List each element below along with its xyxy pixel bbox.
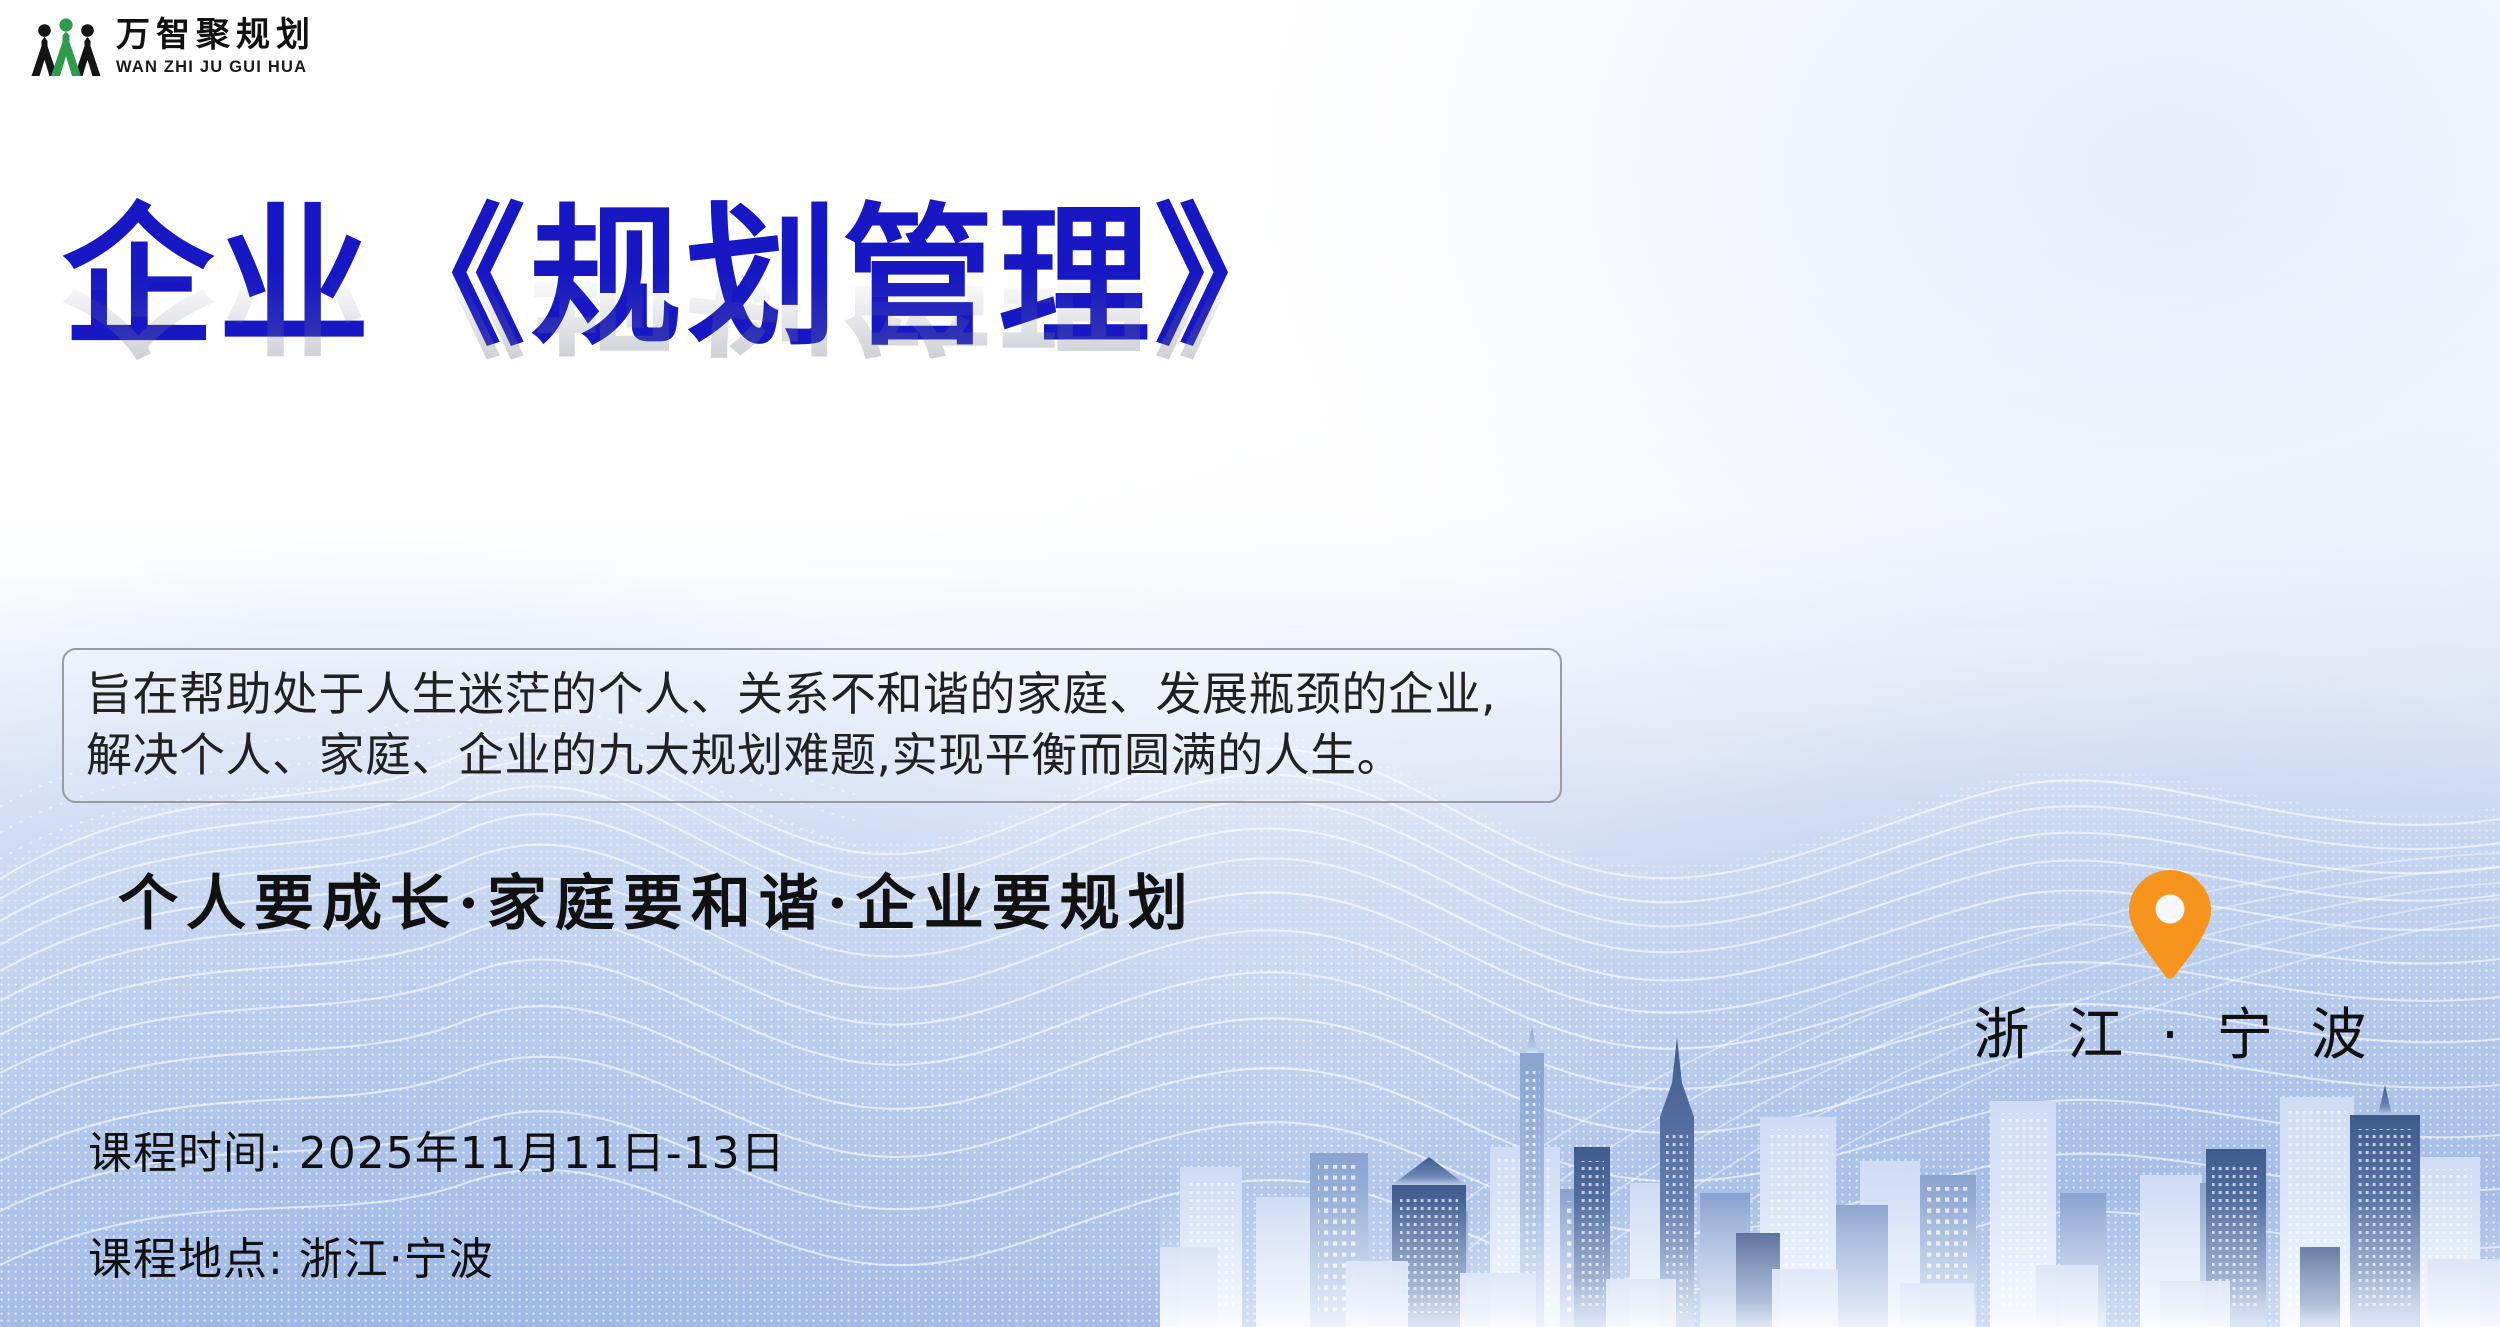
hero-slogan: 个人要成长·家庭要和谐·企业要规划 <box>118 855 1196 942</box>
brand-logo[interactable]: 万智聚规划 WAN ZHI JU GUI HUA <box>30 14 316 80</box>
hero-title-block: 企业《规划管理》 企业《规划管理》 <box>62 196 1662 454</box>
brand-name-en: WAN ZHI JU GUI HUA <box>116 59 316 76</box>
course-info-block: 课程时间: 2025年11月11日-13日 课程地点: 浙江·宁波 <box>88 1117 786 1287</box>
description-line-1: 旨在帮助处于人生迷茫的个人、关系不和谐的家庭、发展瓶颈的企业, <box>86 664 1538 725</box>
location-badge: 浙 江 · 宁 波 <box>1960 868 2380 1071</box>
description-line-2: 解决个人、家庭、企业的九大规划难题,实现平衡而圆满的人生。 <box>86 725 1538 786</box>
course-time: 课程时间: 2025年11月11日-13日 <box>88 1117 786 1181</box>
poster-canvas: 万智聚规划 WAN ZHI JU GUI HUA 企业《规划管理》 企业《规划管… <box>0 0 2500 1327</box>
description-box: 旨在帮助处于人生迷茫的个人、关系不和谐的家庭、发展瓶颈的企业, 解决个人、家庭、… <box>62 648 1562 803</box>
brand-logo-text: 万智聚规划 WAN ZHI JU GUI HUA <box>116 18 316 76</box>
location-label: 浙 江 · 宁 波 <box>1963 990 2376 1071</box>
three-people-logo-icon <box>30 14 102 80</box>
page-title-reflection: 企业《规划管理》 <box>62 270 1662 362</box>
course-place: 课程地点: 浙江·宁波 <box>88 1223 786 1287</box>
map-pin-icon <box>2127 868 2213 980</box>
brand-name-cn: 万智聚规划 <box>116 18 316 52</box>
